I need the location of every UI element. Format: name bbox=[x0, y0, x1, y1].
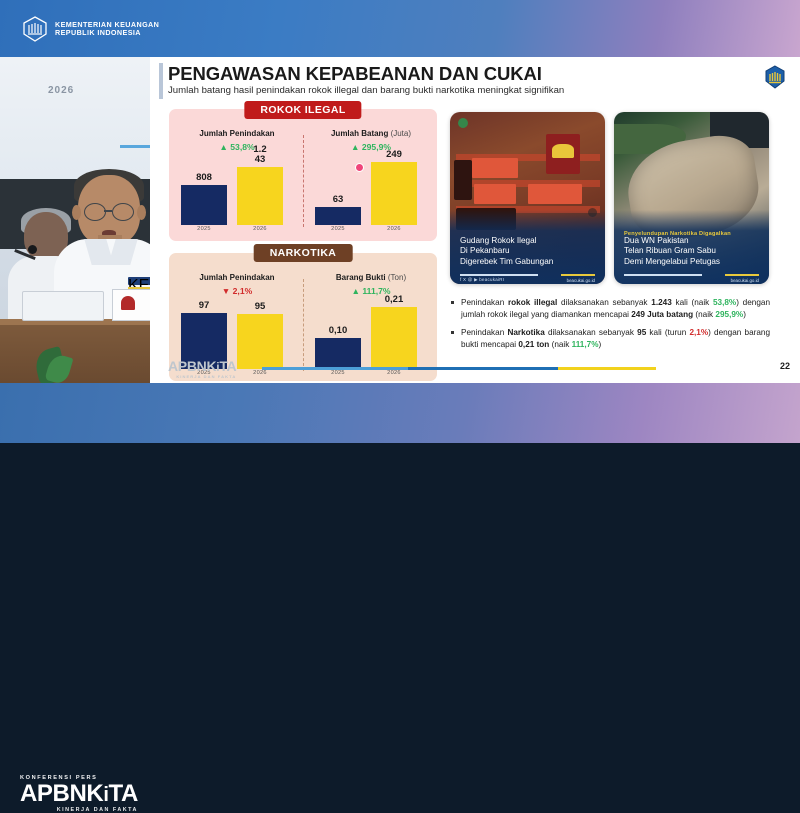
caption-line-3: Digerebek Tim Gabungan bbox=[460, 257, 553, 268]
chart-title-text: Barang Bukti bbox=[336, 273, 386, 282]
caption-website: beacukai.go.id bbox=[731, 278, 759, 283]
caption-lines: Dua WN Pakistan Telan Ribuan Gram Sabu D… bbox=[624, 236, 720, 268]
broadcast-brand-name-main: APBNK bbox=[20, 780, 103, 807]
axis-tick-2026: 2026 bbox=[231, 226, 289, 232]
chart-title: Barang Bukti (Ton) bbox=[309, 273, 433, 282]
section-badge-rokok-ilegal: ROKOK ILEGAL bbox=[244, 101, 361, 119]
chart-x-axis: 2025 2026 bbox=[309, 226, 433, 238]
broadcast-bottom-band: KONFERENSI PERS APBNKiTA KINERJA DAN FAK… bbox=[0, 383, 800, 443]
bar-2026: 249 bbox=[371, 162, 417, 225]
desk-front bbox=[0, 325, 172, 383]
axis-tick-2025: 2025 bbox=[175, 226, 233, 232]
speaker-glasses-left bbox=[84, 203, 106, 221]
bar-value-label: 0,21 bbox=[365, 295, 423, 305]
bar-2025: 808 bbox=[181, 185, 227, 225]
nameplate-left bbox=[22, 291, 104, 321]
chart-title: Jumlah Batang (Juta) bbox=[309, 129, 433, 138]
delta-arrow-up-icon: ▲ bbox=[351, 286, 360, 296]
chart-group-rokok: Jumlah Penindakan ▲ 53,8% 808 1.2 43 bbox=[169, 129, 437, 239]
carton-2 bbox=[474, 184, 516, 204]
banner-emblem-icon bbox=[552, 144, 574, 158]
axis-tick-2026: 2026 bbox=[365, 226, 423, 232]
footer-brand-logo: APBNKiTA KINERJA DAN FAKTA bbox=[168, 359, 236, 379]
page-number: 22 bbox=[780, 361, 790, 371]
speaker-glasses-bridge bbox=[104, 210, 112, 212]
footer-brand-name-tail: TA bbox=[219, 358, 236, 374]
caption-website: beacukai.go.id bbox=[567, 278, 595, 283]
caption-social-handles: f X @ ▶ beacukaiRI bbox=[460, 277, 504, 283]
chart-title-text: Jumlah Penindakan bbox=[199, 129, 274, 138]
slide-footer: APBNKiTA KINERJA DAN FAKTA 22 bbox=[150, 353, 800, 383]
broadcast-brand: KONFERENSI PERS APBNKiTA KINERJA DAN FAK… bbox=[20, 775, 138, 813]
chart-title: Jumlah Penindakan bbox=[175, 129, 299, 138]
chart-rokok-batang: Jumlah Batang (Juta) ▲ 295,9% 63 bbox=[309, 129, 433, 239]
broadcast-brand-name-tail: TA bbox=[109, 780, 138, 807]
bar-value-label-line2: 43 bbox=[231, 155, 289, 165]
ministry-line-2: REPUBLIK INDONESIA bbox=[55, 29, 159, 37]
chart-x-axis: 2025 2026 bbox=[175, 226, 299, 238]
bar-rect bbox=[237, 167, 283, 225]
chart-plot-area: 63 249 bbox=[309, 155, 433, 225]
bar-2025: 63 bbox=[315, 207, 361, 225]
speaker-ear-right bbox=[137, 205, 146, 220]
chart-title-text: Jumlah Penindakan bbox=[199, 273, 274, 282]
highlight-dot-icon bbox=[355, 163, 364, 172]
bar-value-label: 63 bbox=[309, 195, 367, 205]
video-feed: 2026 KEMENKEU bbox=[0, 57, 172, 383]
caption-line-2: Telan Ribuan Gram Sabu bbox=[624, 246, 720, 257]
nameplate-emblem-icon bbox=[121, 296, 135, 310]
video-background-wall bbox=[0, 57, 172, 179]
caption-rule-left bbox=[460, 274, 538, 276]
photo-caption: Penyelundupan Narkotika Digagalkan Dua W… bbox=[614, 210, 769, 284]
footer-brand-tagline: KINERJA DAN FAKTA bbox=[168, 374, 236, 379]
bar-value-label: 95 bbox=[231, 302, 289, 312]
footer-brand-name-main: APBNK bbox=[168, 358, 216, 374]
footer-rule-blue bbox=[408, 367, 558, 370]
bullet-rokok-ilegal: Penindakan rokok illegal dilaksanakan se… bbox=[450, 297, 770, 321]
broadcast-brand-tagline: KINERJA DAN FAKTA bbox=[20, 807, 138, 813]
carton-3 bbox=[528, 184, 582, 204]
caption-rule-right bbox=[561, 274, 595, 276]
caption-lines: Gudang Rokok Ilegal Di Pekanbaru Digereb… bbox=[460, 236, 553, 268]
axis-tick-2025: 2025 bbox=[309, 226, 367, 232]
chart-rokok-penindakan: Jumlah Penindakan ▲ 53,8% 808 1.2 43 bbox=[175, 129, 299, 239]
microphone-icon bbox=[28, 245, 37, 254]
bar-value-label: 808 bbox=[175, 173, 233, 183]
chart-title-unit: (Ton) bbox=[388, 273, 406, 282]
chart-divider bbox=[303, 135, 304, 227]
caption-rule-right bbox=[725, 274, 759, 276]
screen: KEMENTERIAN KEUANGAN REPUBLIK INDONESIA … bbox=[0, 0, 800, 443]
caption-line-2: Di Pekanbaru bbox=[460, 246, 553, 257]
photo-caption: Gudang Rokok Ilegal Di Pekanbaru Digereb… bbox=[450, 210, 605, 284]
photo-source-badge-icon bbox=[458, 118, 468, 128]
broadcast-top-band: KEMENTERIAN KEUANGAN REPUBLIK INDONESIA bbox=[0, 0, 800, 57]
bar-value-label: 0,10 bbox=[309, 326, 367, 336]
delta-arrow-up-icon: ▲ bbox=[351, 142, 360, 152]
caption-rule-left bbox=[624, 274, 702, 276]
kemenkeu-logo-icon bbox=[22, 16, 48, 42]
bar-rect bbox=[181, 185, 227, 225]
caption-line-1: Gudang Rokok Ilegal bbox=[460, 236, 553, 247]
chart-delta: ▼ 2,1% bbox=[175, 286, 299, 296]
crate-1 bbox=[454, 160, 472, 200]
footer-rule-light-blue bbox=[262, 367, 408, 370]
presentation-slide: PENGAWASAN KEPABEANAN DAN CUKAI Jumlah b… bbox=[150, 57, 800, 383]
bar-2026: 1.2 43 bbox=[237, 167, 283, 225]
speaker-glasses-right bbox=[112, 203, 134, 221]
chart-title: Jumlah Penindakan bbox=[175, 273, 299, 282]
ministry-identity: KEMENTERIAN KEUANGAN REPUBLIK INDONESIA bbox=[22, 16, 159, 42]
summary-bullet-list: Penindakan rokok illegal dilaksanakan se… bbox=[450, 297, 770, 357]
speaker-ear-left bbox=[72, 205, 81, 220]
bar-rect bbox=[371, 162, 417, 225]
broadcast-brand-name: APBNKiTA bbox=[20, 782, 138, 806]
delta-value: 2,1% bbox=[233, 286, 253, 296]
caption-line-1: Dua WN Pakistan bbox=[624, 236, 720, 247]
photo-card-rokok: Gudang Rokok Ilegal Di Pekanbaru Digereb… bbox=[450, 112, 605, 284]
section-rokok-ilegal: ROKOK ILEGAL Jumlah Penindakan ▲ 53,8% 8… bbox=[169, 109, 437, 241]
ministry-name: KEMENTERIAN KEUANGAN REPUBLIK INDONESIA bbox=[55, 21, 159, 37]
broadcast-brand-kicker: KONFERENSI PERS bbox=[20, 775, 138, 781]
section-badge-narkotika: NARKOTIKA bbox=[254, 244, 353, 262]
caption-line-3: Demi Mengelabui Petugas bbox=[624, 257, 720, 268]
delta-arrow-down-icon: ▼ bbox=[222, 286, 231, 296]
page-title: PENGAWASAN KEPABEANAN DAN CUKAI bbox=[168, 63, 542, 85]
bar-rect bbox=[315, 207, 361, 225]
bar-value-label: 249 bbox=[365, 150, 423, 160]
chart-title-unit: (Juta) bbox=[391, 129, 411, 138]
chart-plot-area: 808 1.2 43 bbox=[175, 155, 299, 225]
chart-title-text: Jumlah Batang bbox=[331, 129, 388, 138]
carton-1 bbox=[472, 158, 518, 178]
bullet-narkotika: Penindakan Narkotika dilaksanakan sebany… bbox=[450, 327, 770, 351]
footer-brand-name: APBNKiTA bbox=[168, 359, 236, 373]
page-subtitle: Jumlah batang hasil penindakan rokok ill… bbox=[168, 85, 564, 96]
title-accent-bar bbox=[159, 63, 163, 99]
bar-value-label: 97 bbox=[175, 301, 233, 311]
video-year-overlay: 2026 bbox=[48, 85, 74, 96]
footer-rule-yellow bbox=[558, 367, 656, 370]
kemenkeu-emblem-icon bbox=[764, 65, 786, 89]
delta-arrow-up-icon: ▲ bbox=[219, 142, 228, 152]
photo-card-narkotika: Penyelundupan Narkotika Digagalkan Dua W… bbox=[614, 112, 769, 284]
